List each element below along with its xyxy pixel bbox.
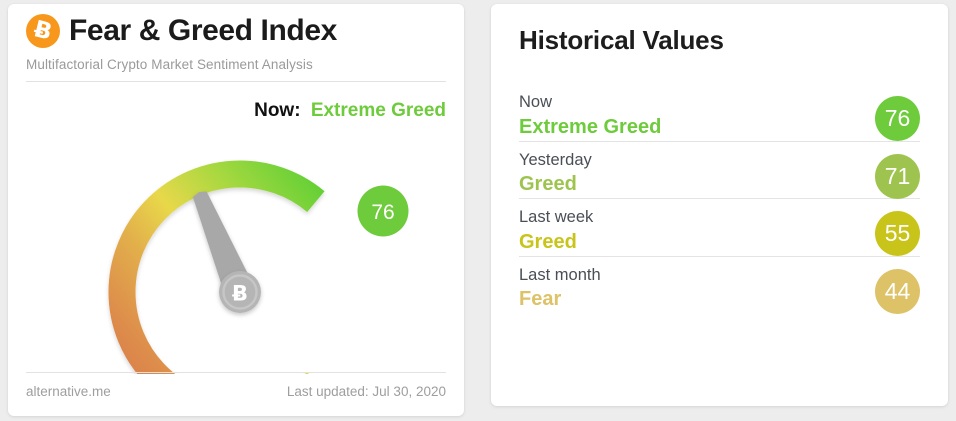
last-updated-text: Last updated: Jul 30, 2020 [287,384,446,399]
history-period: Now [519,92,920,113]
history-period: Yesterday [519,150,920,171]
now-label: Now: [254,100,300,121]
history-classification: Greed [519,171,920,197]
hub-bitcoin-glyph: Ƀ [232,282,248,306]
title-row: Ƀ Fear & Greed Index [26,14,446,48]
gauge-value-label: 76 [371,201,394,224]
history-value-badge: 76 [875,96,920,141]
history-row-yesterday[interactable]: Yesterday Greed 71 [519,142,920,200]
history-value-badge: 71 [875,154,920,199]
now-status: Now: Extreme Greed [254,100,446,122]
now-value: Extreme Greed [311,100,446,121]
history-row-last-month[interactable]: Last month Fear 44 [519,257,920,314]
fear-greed-gauge: Ƀ 76 [8,124,464,374]
bitcoin-icon: Ƀ [26,14,60,48]
gauge-needle-hub: Ƀ [219,271,261,313]
source-link[interactable]: alternative.me [26,384,111,399]
history-classification: Fear [519,286,920,312]
history-value-badge: 44 [875,269,920,314]
history-classification: Greed [519,229,920,255]
history-classification: Extreme Greed [519,114,920,140]
history-period: Last month [519,265,920,286]
historical-values-card: Historical Values Now Extreme Greed 76 Y… [491,4,948,406]
history-row-now[interactable]: Now Extreme Greed 76 [519,84,920,142]
page-subtitle: Multifactorial Crypto Market Sentiment A… [26,57,446,72]
history-title: Historical Values [519,25,724,56]
history-row-last-week[interactable]: Last week Greed 55 [519,199,920,257]
dashboard-root: Ƀ Fear & Greed Index Multifactorial Cryp… [0,0,956,421]
gauge-card-footer: alternative.me Last updated: Jul 30, 202… [26,372,446,399]
history-value-badge: 55 [875,211,920,256]
header-divider [26,81,446,82]
history-list: Now Extreme Greed 76 Yesterday Greed 71 … [519,84,920,313]
footer-divider [26,372,446,373]
page-title: Fear & Greed Index [69,16,337,46]
gauge-card: Ƀ Fear & Greed Index Multifactorial Cryp… [8,4,464,416]
history-period: Last week [519,207,920,228]
bitcoin-glyph: Ƀ [32,18,55,45]
gauge-card-header: Ƀ Fear & Greed Index Multifactorial Cryp… [26,14,446,82]
gauge-value-badge: 76 [358,186,409,237]
